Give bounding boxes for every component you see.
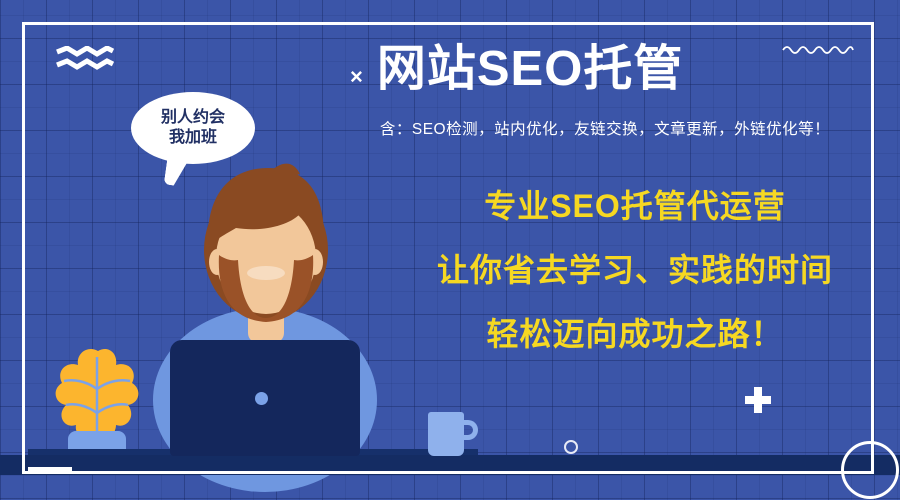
wave-thin-icon (782, 42, 854, 56)
slogan-line-2: 让你省去学习、实践的时间 (400, 254, 870, 286)
slogan-list: 专业SEO托管代运营 让你省去学习、实践的时间 轻松迈向成功之路！ (400, 190, 870, 350)
page-title: 网站SEO托管 (377, 44, 683, 95)
laptop-icon (170, 340, 360, 456)
title-row: × 网站SEO托管 (350, 44, 683, 95)
circle-outline-icon (564, 440, 578, 454)
desk-surface (0, 455, 900, 475)
wave-thick-icon (56, 46, 114, 72)
slogan-line-3: 轻松迈向成功之路！ (400, 318, 870, 350)
page-subtitle: 含：SEO检测，站内优化，友链交换，文章更新，外链优化等！ (340, 117, 870, 139)
seo-hosting-banner: 别人约会 我加班 × 网站SEO托管 含：SEO检测，站内优化， (0, 0, 900, 500)
speech-bubble: 别人约会 我加班 (131, 92, 255, 164)
plus-icon (745, 387, 771, 413)
laptop-logo-dot (255, 392, 268, 405)
speech-bubble-line-1: 别人约会 (161, 108, 225, 128)
coffee-mug-icon (428, 412, 464, 456)
paper-stack (28, 467, 72, 473)
potted-plant-icon (46, 345, 156, 460)
title-bullet-mark: × (350, 52, 363, 88)
speech-bubble-line-2: 我加班 (169, 128, 217, 148)
slogan-line-1: 专业SEO托管代运营 (400, 190, 870, 222)
